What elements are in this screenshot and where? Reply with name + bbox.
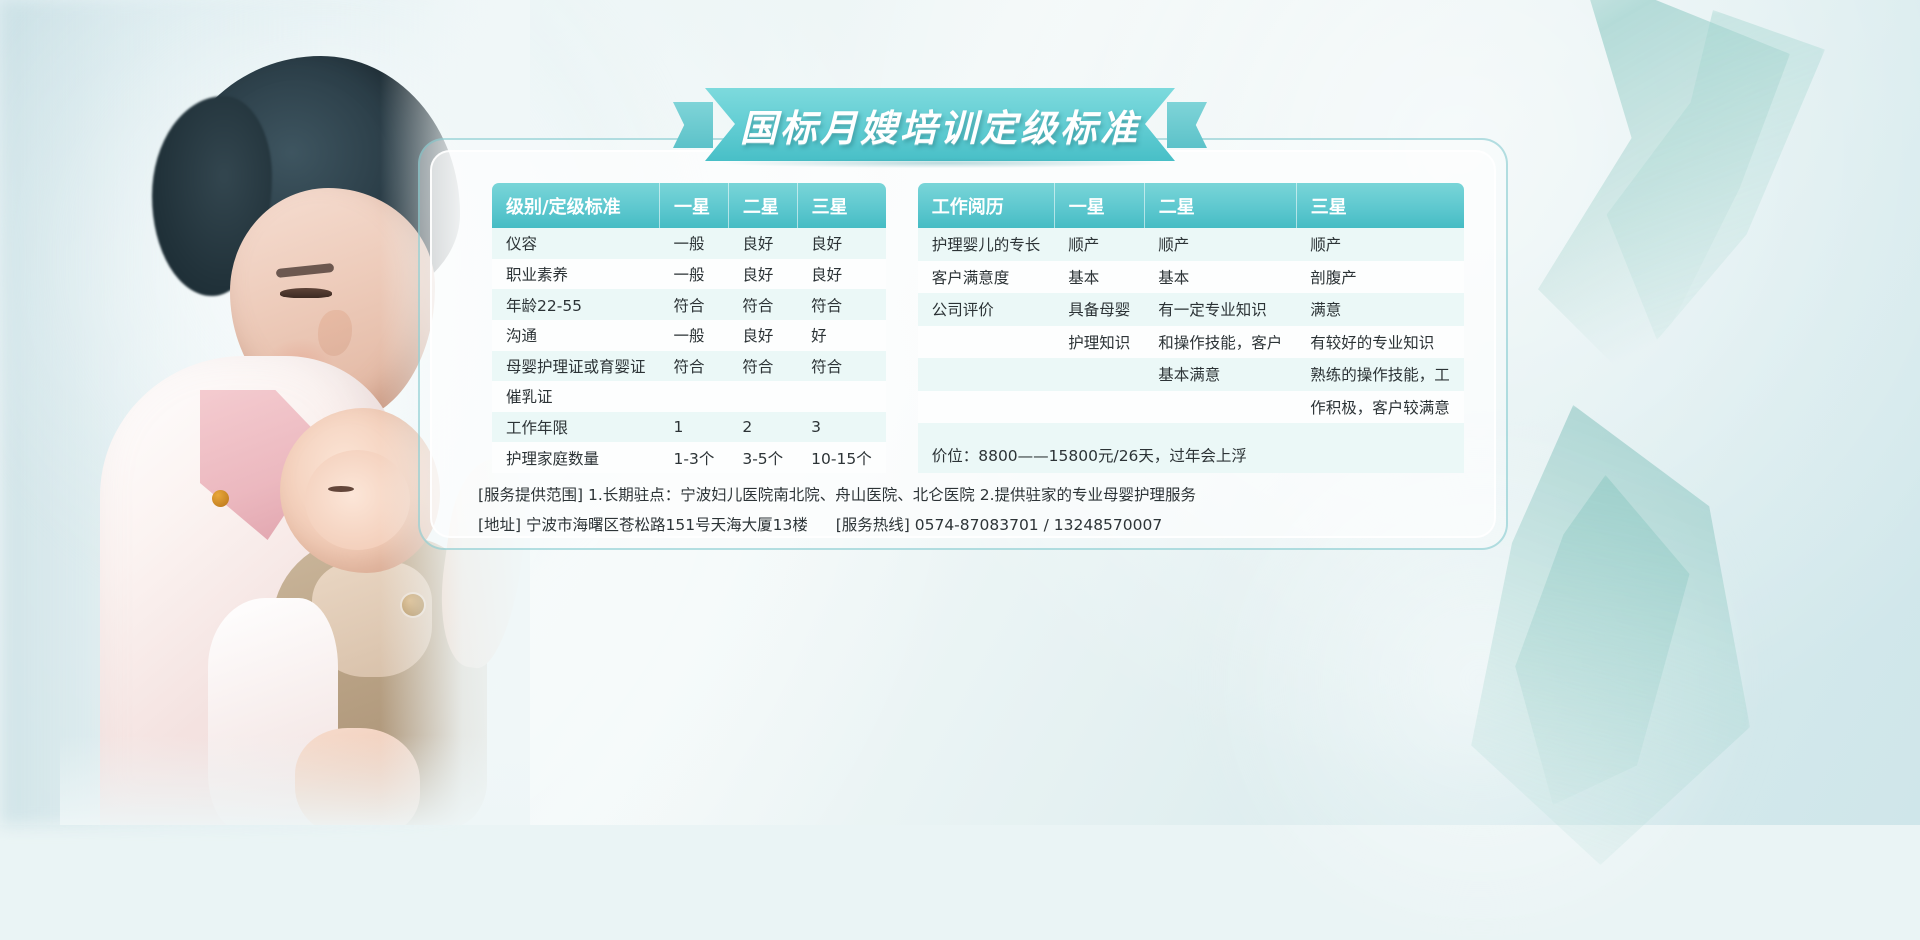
hotline-note: [服务热线] 0574-87083701 / 13248570007 [836, 516, 1163, 534]
cell-two-star: 基本满意 [1144, 358, 1296, 391]
cell-two-star: 良好 [728, 320, 797, 351]
cell-three-star: 顺产 [1296, 228, 1464, 261]
price-note: 价位：8800——15800元/26天，过年会上浮 [918, 423, 1464, 473]
cell-two-star: 良好 [728, 259, 797, 290]
photo-baby-eye [328, 486, 354, 492]
cell-one-star: 符合 [660, 351, 729, 382]
grading-standard-table: 级别/定级标准 一星 二星 三星 仪容 一般 良好 良好 职业素养 一般 良好 … [492, 183, 886, 473]
table-row: 公司评价 具备母婴 有一定专业知识 满意 [918, 293, 1464, 326]
cell-criteria: 催乳证 [492, 381, 660, 412]
col-header-three-star: 三星 [797, 183, 886, 228]
cell-criteria: 母婴护理证或育婴证 [492, 351, 660, 382]
col-header-one-star: 一星 [660, 183, 729, 228]
cell-three-star: 熟练的操作技能，工 [1296, 358, 1464, 391]
cell-one-star: 1 [660, 412, 729, 443]
cell-one-star: 符合 [660, 289, 729, 320]
table-row: 护理知识 和操作技能，客户 有较好的专业知识 [918, 326, 1464, 359]
cell-three-star: 有较好的专业知识 [1296, 326, 1464, 359]
col-header-two-star: 二星 [728, 183, 797, 228]
address-hotline-line: [地址] 宁波市海曙区苍松路151号天海大厦13楼 [服务热线] 0574-87… [478, 510, 1478, 540]
cell-experience [918, 358, 1055, 391]
cell-two-star: 基本 [1144, 261, 1296, 294]
cell-two-star: 有一定专业知识 [1144, 293, 1296, 326]
col-header-experience: 工作阅历 [918, 183, 1055, 228]
photo-bottom-fade [60, 735, 530, 825]
cell-experience: 护理婴儿的专长 [918, 228, 1055, 261]
cell-one-star: 一般 [660, 228, 729, 259]
banner-body: 国标月嫂培训定级标准 [705, 88, 1175, 161]
cell-three-star: 良好 [797, 259, 886, 290]
page-title: 国标月嫂培训定级标准 [740, 98, 1140, 152]
cell-three-star: 符合 [797, 351, 886, 382]
cell-one-star: 一般 [660, 259, 729, 290]
work-experience-table: 工作阅历 一星 二星 三星 护理婴儿的专长 顺产 顺产 顺产 客户满意度 基本 … [918, 183, 1464, 473]
cell-three-star: 3 [797, 412, 886, 443]
cell-two-star: 符合 [728, 351, 797, 382]
table-row: 沟通 一般 良好 好 [492, 320, 886, 351]
tables-container: 级别/定级标准 一星 二星 三星 仪容 一般 良好 良好 职业素养 一般 良好 … [492, 183, 1450, 473]
grading-table-body: 仪容 一般 良好 良好 职业素养 一般 良好 良好 年龄22-55 符合 符合 … [492, 228, 886, 473]
table-row: 工作年限 1 2 3 [492, 412, 886, 443]
cell-two-star: 良好 [728, 228, 797, 259]
price-note-row: 价位：8800——15800元/26天，过年会上浮 [918, 423, 1464, 473]
cell-one-star: 具备母婴 [1054, 293, 1144, 326]
cell-three-star: 符合 [797, 289, 886, 320]
work-table-head: 工作阅历 一星 二星 三星 [918, 183, 1464, 228]
cell-three-star [797, 381, 886, 412]
cell-two-star: 3-5个 [728, 442, 797, 473]
cell-criteria: 护理家庭数量 [492, 442, 660, 473]
cell-criteria: 沟通 [492, 320, 660, 351]
cell-three-star: 作积极，客户较满意 [1296, 391, 1464, 424]
cell-two-star [728, 381, 797, 412]
cell-criteria: 仪容 [492, 228, 660, 259]
cell-two-star [1144, 391, 1296, 424]
service-scope-note: [服务提供范围] 1.长期驻点：宁波妇儿医院南北院、舟山医院、北仑医院 2.提供… [478, 480, 1478, 510]
cell-three-star: 满意 [1296, 293, 1464, 326]
cell-one-star: 1-3个 [660, 442, 729, 473]
work-table-body: 护理婴儿的专长 顺产 顺产 顺产 客户满意度 基本 基本 剖腹产 公司评价 具备… [918, 228, 1464, 473]
cell-experience: 公司评价 [918, 293, 1055, 326]
cell-criteria: 职业素养 [492, 259, 660, 290]
cell-one-star [1054, 358, 1144, 391]
table-row: 年龄22-55 符合 符合 符合 [492, 289, 886, 320]
cell-experience [918, 391, 1055, 424]
cell-three-star: 好 [797, 320, 886, 351]
cell-three-star: 10-15个 [797, 442, 886, 473]
cell-one-star: 基本 [1054, 261, 1144, 294]
cell-three-star: 良好 [797, 228, 886, 259]
col-header-three-star: 三星 [1296, 183, 1464, 228]
table-row: 催乳证 [492, 381, 886, 412]
cell-two-star: 顺产 [1144, 228, 1296, 261]
cell-three-star: 剖腹产 [1296, 261, 1464, 294]
col-header-criteria: 级别/定级标准 [492, 183, 660, 228]
table-row: 母婴护理证或育婴证 符合 符合 符合 [492, 351, 886, 382]
table-row: 护理家庭数量 1-3个 3-5个 10-15个 [492, 442, 886, 473]
photo-badge [212, 490, 229, 507]
cell-criteria: 工作年限 [492, 412, 660, 443]
table-header-row: 工作阅历 一星 二星 三星 [918, 183, 1464, 228]
grading-table-head: 级别/定级标准 一星 二星 三星 [492, 183, 886, 228]
table-row: 仪容 一般 良好 良好 [492, 228, 886, 259]
col-header-two-star: 二星 [1144, 183, 1296, 228]
address-note: [地址] 宁波市海曙区苍松路151号天海大厦13楼 [478, 516, 808, 534]
cell-criteria: 年龄22-55 [492, 289, 660, 320]
cell-one-star [660, 381, 729, 412]
table-header-row: 级别/定级标准 一星 二星 三星 [492, 183, 886, 228]
cell-experience [918, 326, 1055, 359]
table-row: 职业素养 一般 良好 良好 [492, 259, 886, 290]
table-row: 护理婴儿的专长 顺产 顺产 顺产 [918, 228, 1464, 261]
cell-one-star: 顺产 [1054, 228, 1144, 261]
table-row: 基本满意 熟练的操作技能，工 [918, 358, 1464, 391]
table-row: 客户满意度 基本 基本 剖腹产 [918, 261, 1464, 294]
cell-experience: 客户满意度 [918, 261, 1055, 294]
cell-one-star: 护理知识 [1054, 326, 1144, 359]
title-banner: 国标月嫂培训定级标准 [705, 88, 1175, 161]
photo-eye [280, 288, 332, 298]
cell-two-star: 2 [728, 412, 797, 443]
cell-two-star: 符合 [728, 289, 797, 320]
table-row: 作积极，客户较满意 [918, 391, 1464, 424]
cell-one-star [1054, 391, 1144, 424]
cell-two-star: 和操作技能，客户 [1144, 326, 1296, 359]
footer-notes: [服务提供范围] 1.长期驻点：宁波妇儿医院南北院、舟山医院、北仑医院 2.提供… [478, 480, 1478, 540]
col-header-one-star: 一星 [1054, 183, 1144, 228]
banner-shadow [723, 158, 1163, 168]
cell-one-star: 一般 [660, 320, 729, 351]
